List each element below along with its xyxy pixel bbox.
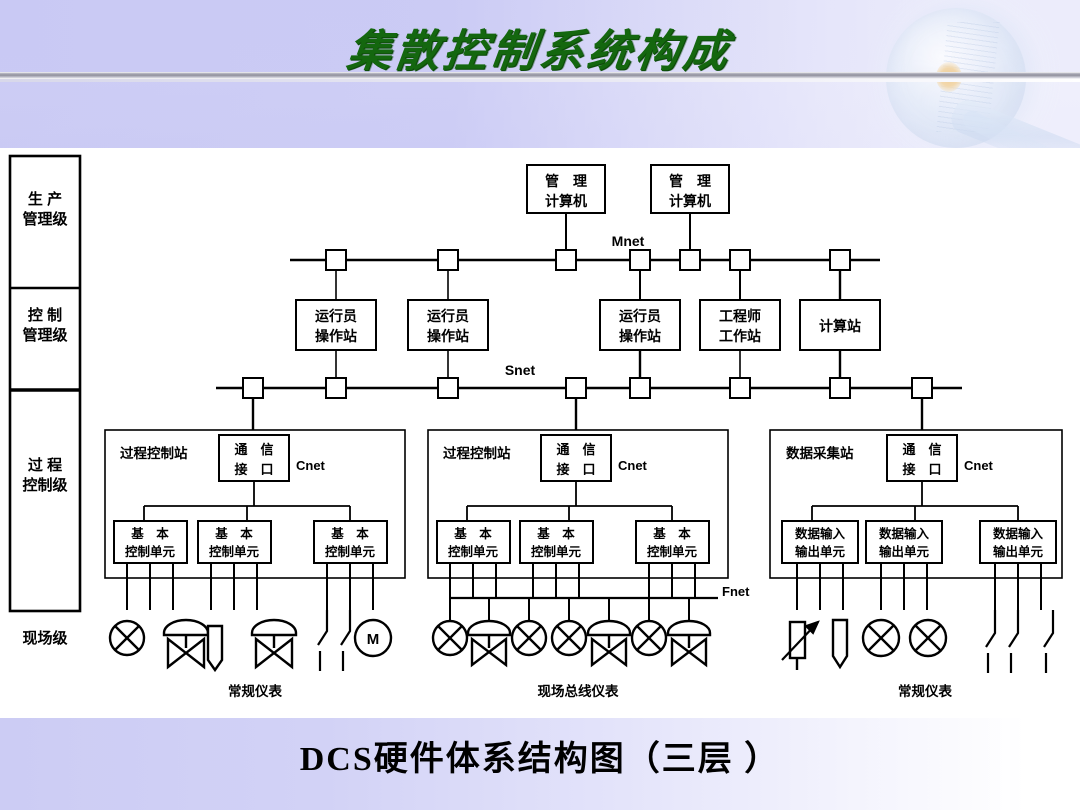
operator-station-1-line2: 操作站 bbox=[315, 328, 357, 344]
station-3-unit-2-line2: 输出单元 bbox=[879, 544, 930, 559]
slide-root: 集散控制系统构成 生 产 管理级 控 制 管理级 过 程 控制级 现场级 管 理 bbox=[0, 0, 1080, 810]
management-computer-1-line1: 管 理 bbox=[545, 173, 587, 189]
transmitter-icon bbox=[512, 621, 546, 655]
variable-resistor-icon bbox=[782, 622, 818, 670]
snet-label: Snet bbox=[505, 362, 536, 378]
transmitter-icon bbox=[433, 621, 467, 655]
mnet-node-1 bbox=[326, 250, 346, 270]
operator-station-3-line2: 操作站 bbox=[619, 328, 661, 344]
snet-node-5 bbox=[630, 378, 650, 398]
mnet-bus: Mnet bbox=[290, 233, 880, 270]
mnet-node-5 bbox=[680, 250, 700, 270]
station-2-unit-3-line2: 控制单元 bbox=[647, 544, 698, 559]
snet-node-2 bbox=[326, 378, 346, 398]
field-devices-left: M 常规仪表 bbox=[110, 610, 391, 699]
management-computer-1-line2: 计算机 bbox=[545, 193, 587, 209]
station-1-field-caption: 常规仪表 bbox=[228, 683, 282, 699]
station-1-unit-1-line2: 控制单元 bbox=[125, 544, 176, 559]
control-valve-icon bbox=[164, 620, 208, 667]
wire-break-icon bbox=[986, 610, 1018, 673]
motor-label: M bbox=[367, 631, 380, 648]
management-computer-2-line2: 计算机 bbox=[669, 193, 711, 209]
station-2-unit-1: 基 本 控制单元 bbox=[437, 521, 510, 563]
station-1-title: 过程控制站 bbox=[120, 445, 188, 461]
station-1-unit-2-line1: 基 本 bbox=[214, 526, 253, 541]
station-3-unit-1: 数据输入 输出单元 bbox=[782, 521, 858, 563]
wire-break-icon bbox=[318, 610, 350, 671]
level-process-line2: 控制级 bbox=[22, 476, 68, 494]
fnet-label: Fnet bbox=[722, 584, 750, 599]
snet-station-drops bbox=[253, 398, 922, 430]
management-computer-2: 管 理 计算机 bbox=[651, 165, 729, 255]
operator-station-1-line1: 运行员 bbox=[315, 308, 357, 324]
control-valve-icon bbox=[252, 620, 296, 667]
dcs-architecture-diagram: 生 产 管理级 控 制 管理级 过 程 控制级 现场级 管 理 计算机 管 理 … bbox=[0, 148, 1080, 720]
station-2-cnet-label: Cnet bbox=[618, 458, 648, 473]
station-2-unit-3-line1: 基 本 bbox=[652, 526, 691, 541]
probe-sensor-icon bbox=[208, 626, 222, 670]
engineer-workstation: 工程师 工作站 bbox=[700, 300, 780, 388]
page-title: 集散控制系统构成 bbox=[0, 15, 1080, 79]
motor-icon: M bbox=[355, 620, 391, 656]
station-2-interface-line2: 接 口 bbox=[556, 462, 595, 477]
mnet-node-7 bbox=[830, 250, 850, 270]
footer-caption: DCS硬件体系结构图（三层 ） bbox=[0, 731, 1080, 780]
control-valve-icon bbox=[588, 621, 630, 665]
station-1-unit-3-line2: 控制单元 bbox=[325, 544, 376, 559]
station-2-interface-line1: 通 信 bbox=[556, 442, 595, 457]
operator-station-2-line2: 操作站 bbox=[427, 328, 469, 344]
station-3-interface-line1: 通 信 bbox=[902, 442, 941, 457]
management-computer-2-line1: 管 理 bbox=[669, 173, 711, 189]
operator-station-2-line1: 运行员 bbox=[427, 308, 469, 324]
process-control-station-1: 过程控制站 通 信 接 口 Cnet 基 本 控制单元 基 本 bbox=[105, 430, 405, 610]
station-1-unit-3: 基 本 控制单元 bbox=[314, 521, 387, 563]
snet-node-7 bbox=[830, 378, 850, 398]
engineer-workstation-line1: 工程师 bbox=[719, 308, 761, 324]
management-computer-1: 管 理 计算机 bbox=[527, 165, 605, 255]
station-3-unit-3-line2: 输出单元 bbox=[993, 544, 1044, 559]
station-1-unit-2: 基 本 控制单元 bbox=[198, 521, 271, 563]
station-2-unit-2-line2: 控制单元 bbox=[531, 544, 582, 559]
snet-node-8 bbox=[912, 378, 932, 398]
transmitter-icon bbox=[910, 620, 946, 656]
station-3-unit-3: 数据输入 输出单元 bbox=[980, 521, 1056, 563]
operator-row-top-drops bbox=[336, 270, 840, 300]
level-field-label: 现场级 bbox=[22, 629, 68, 647]
level-control-line2: 管理级 bbox=[22, 326, 68, 344]
compute-station: 计算站 bbox=[800, 300, 880, 388]
station-3-unit-3-line1: 数据输入 bbox=[992, 526, 1044, 541]
station-2-field-caption: 现场总线仪表 bbox=[538, 683, 619, 699]
field-devices-middle: 现场总线仪表 bbox=[433, 598, 710, 699]
snet-node-3 bbox=[438, 378, 458, 398]
transmitter-icon bbox=[110, 621, 144, 655]
engineer-workstation-line2: 工作站 bbox=[719, 328, 761, 344]
operator-station-3: 运行员 操作站 bbox=[600, 300, 680, 388]
fnet-device-drops bbox=[450, 598, 689, 620]
snet-bus: Snet bbox=[216, 362, 962, 398]
diagram-canvas: 生 产 管理级 控 制 管理级 过 程 控制级 现场级 管 理 计算机 管 理 … bbox=[0, 148, 1080, 720]
control-valve-icon bbox=[668, 621, 710, 665]
station-1-unit-1-line1: 基 本 bbox=[130, 526, 169, 541]
operator-station-1: 运行员 操作站 bbox=[296, 300, 376, 388]
probe-sensor-icon bbox=[833, 620, 847, 667]
level-process-line1: 过 程 bbox=[28, 456, 62, 474]
station-3-unit-1-line2: 输出单元 bbox=[795, 544, 846, 559]
station-2-unit-1-line2: 控制单元 bbox=[448, 544, 499, 559]
station-2-unit-2: 基 本 控制单元 bbox=[520, 521, 593, 563]
level-control-line1: 控 制 bbox=[28, 306, 62, 324]
mnet-node-3 bbox=[556, 250, 576, 270]
station-3-unit-2-line1: 数据输入 bbox=[878, 526, 930, 541]
field-devices-right: 常规仪表 bbox=[782, 610, 1053, 699]
mnet-node-4 bbox=[630, 250, 650, 270]
snet-node-4 bbox=[566, 378, 586, 398]
station-1-interface-line2: 接 口 bbox=[234, 462, 273, 477]
wire-break-icon bbox=[1044, 610, 1053, 673]
station-3-cnet-label: Cnet bbox=[964, 458, 994, 473]
level-production-line2: 管理级 bbox=[22, 210, 68, 228]
station-1-interface-line1: 通 信 bbox=[234, 442, 273, 457]
transmitter-icon bbox=[552, 621, 586, 655]
station-1-unit-3-line1: 基 本 bbox=[330, 526, 369, 541]
mnet-node-2 bbox=[438, 250, 458, 270]
mnet-label: Mnet bbox=[612, 233, 645, 249]
station-3-interface-line2: 接 口 bbox=[902, 462, 941, 477]
operator-station-3-line1: 运行员 bbox=[619, 308, 661, 324]
transmitter-icon bbox=[632, 621, 666, 655]
station-1-unit-2-line2: 控制单元 bbox=[209, 544, 260, 559]
station-3-title: 数据采集站 bbox=[786, 445, 854, 461]
station-2-unit-1-line1: 基 本 bbox=[453, 526, 492, 541]
header-divider-rule-shadow bbox=[0, 79, 1080, 82]
data-acquisition-station: 数据采集站 通 信 接 口 Cnet 数据输入 输出单元 数据输入 bbox=[770, 430, 1062, 610]
station-3-field-caption: 常规仪表 bbox=[898, 683, 952, 699]
station-2-unit-2-line1: 基 本 bbox=[536, 526, 575, 541]
operator-station-2: 运行员 操作站 bbox=[408, 300, 488, 388]
snet-node-6 bbox=[730, 378, 750, 398]
transmitter-icon bbox=[863, 620, 899, 656]
station-3-unit-1-line1: 数据输入 bbox=[794, 526, 846, 541]
station-2-title: 过程控制站 bbox=[443, 445, 511, 461]
station-1-cnet-label: Cnet bbox=[296, 458, 326, 473]
level-column: 生 产 管理级 控 制 管理级 过 程 控制级 现场级 bbox=[10, 156, 80, 647]
station-2-unit-3: 基 本 控制单元 bbox=[636, 521, 709, 563]
snet-node-1 bbox=[243, 378, 263, 398]
station-3-unit-2: 数据输入 输出单元 bbox=[866, 521, 942, 563]
level-production-line1: 生 产 bbox=[28, 190, 62, 208]
station-1-unit-1: 基 本 控制单元 bbox=[114, 521, 187, 563]
mnet-node-6 bbox=[730, 250, 750, 270]
compute-station-label: 计算站 bbox=[819, 318, 861, 334]
process-control-station-2: 过程控制站 通 信 接 口 Cnet 基 本 控制单元 基 本 bbox=[428, 430, 728, 598]
control-valve-icon bbox=[468, 621, 510, 665]
